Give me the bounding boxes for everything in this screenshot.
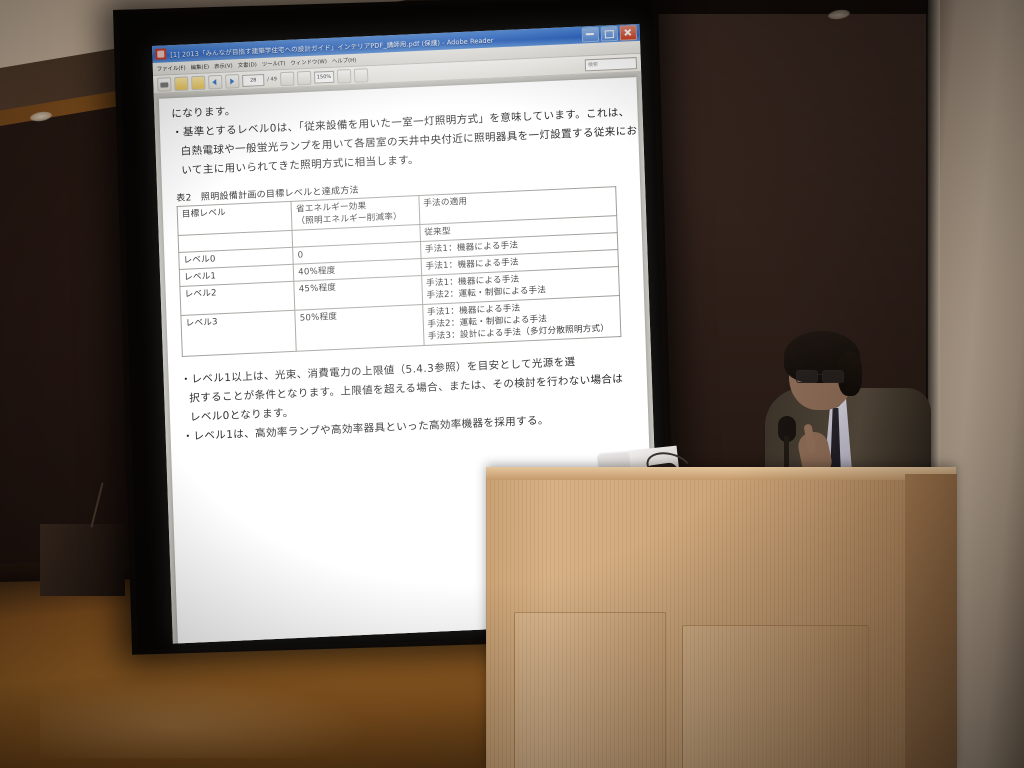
menu-item-view[interactable]: 表示(V)	[214, 61, 233, 70]
glasses-left-lens	[796, 370, 818, 383]
podium-panel-right	[682, 625, 869, 768]
menu-item-tools[interactable]: ツール(T)	[262, 59, 286, 68]
previous-page-icon[interactable]	[208, 74, 222, 89]
adobe-reader-icon	[155, 48, 166, 59]
minimize-button[interactable]	[582, 27, 600, 43]
menu-item-edit[interactable]: 編集(E)	[190, 62, 209, 71]
zoom-out-icon[interactable]	[280, 71, 294, 86]
zoom-in-icon[interactable]	[297, 70, 311, 85]
cell-methods: 手法1：機器による手法 手法2：運転・制御による手法 手法3：設計による手法（多…	[422, 296, 621, 346]
bottom-paragraph: ・レベル1以上は、光束、消費電力の上限値（5.4.3参照）を目安として光源を選 …	[180, 350, 636, 447]
menu-item-document[interactable]: 文書(D)	[238, 60, 257, 69]
side-pedestal	[40, 524, 125, 596]
next-page-icon[interactable]	[225, 74, 239, 89]
glasses-right-lens	[822, 370, 844, 383]
email-icon[interactable]	[191, 75, 205, 90]
menu-item-help[interactable]: ヘルプ(H)	[332, 56, 357, 65]
podium-top-surface	[486, 467, 956, 480]
print-icon[interactable]	[157, 77, 171, 92]
target-level-table: 目標レベル 省エネルギー効果 （照明エネルギー削減率） 手法の適用 従来型 レベ	[177, 186, 622, 357]
total-pages-label: / 49	[267, 76, 277, 82]
window-control-buttons	[582, 25, 637, 42]
menu-item-file[interactable]: ファイル(F)	[157, 63, 186, 72]
ceiling-shadow-strip	[618, 0, 928, 14]
zoom-level-select[interactable]: 150%	[314, 70, 335, 83]
close-button[interactable]	[620, 25, 638, 41]
cell-saving: 50%程度	[295, 305, 424, 352]
fit-page-icon[interactable]	[337, 69, 351, 84]
glasses-icon	[796, 370, 848, 381]
presentation-scene: [1] 2013「みんなが目指す建築学住宅への設計ガイド」インテリアPDF_講師…	[0, 0, 1024, 768]
page-number-input[interactable]: 28	[242, 73, 264, 86]
floor-reflection	[40, 678, 370, 758]
podium-right-side	[905, 474, 957, 768]
fit-width-icon[interactable]	[354, 68, 368, 83]
maximize-button[interactable]	[601, 26, 619, 42]
cell-level: レベル3	[181, 310, 297, 356]
save-icon[interactable]	[174, 76, 188, 91]
menu-item-window[interactable]: ウィンドウ(W)	[290, 57, 327, 67]
podium-panel-left	[514, 612, 666, 768]
search-input[interactable]: 検索	[585, 57, 637, 71]
